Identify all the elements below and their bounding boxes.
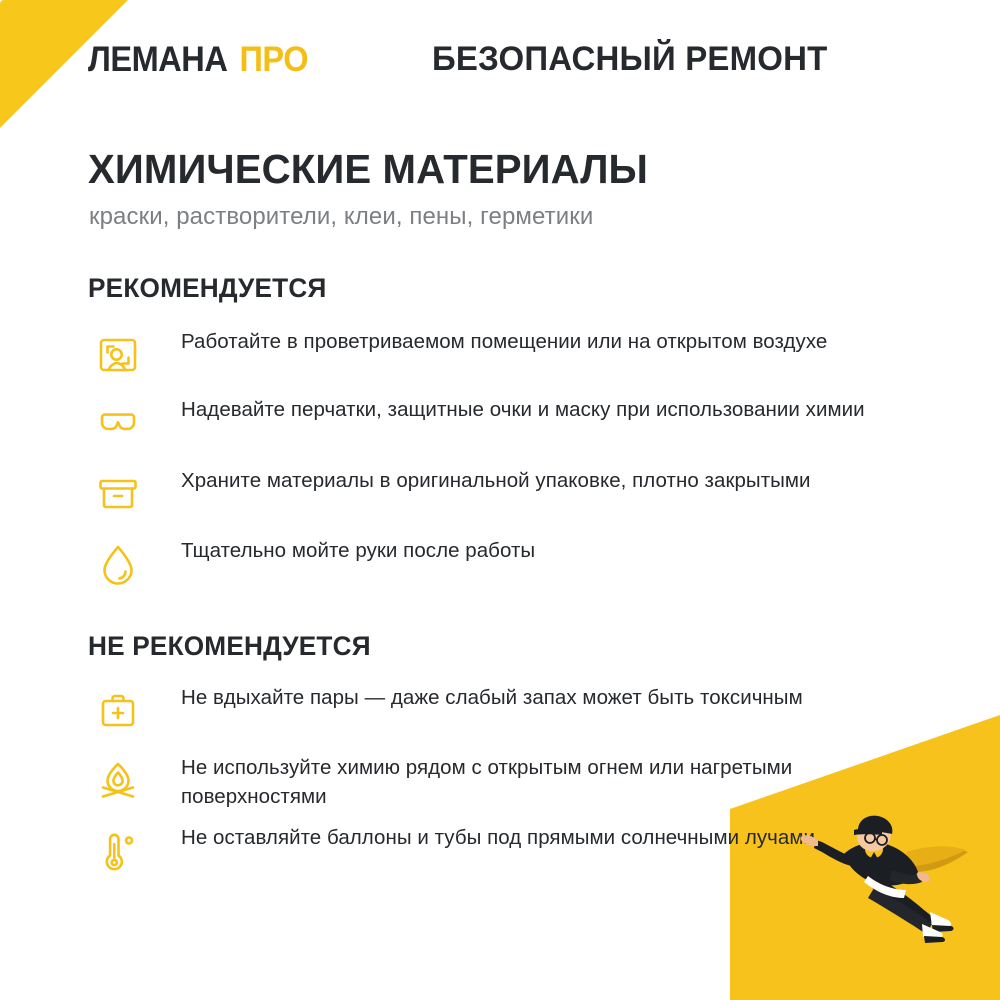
section-title-recommended: РЕКОМЕНДУЕТСЯ [88, 273, 326, 304]
brand-logo: ЛЕМАНА ПРО [88, 40, 308, 80]
page-title: ХИМИЧЕСКИЕ МАТЕРИАЛЫ [88, 146, 648, 193]
list-item-text: Надевайте перчатки, защитные очки и маск… [150, 395, 865, 424]
ventilated-room-icon [86, 329, 150, 381]
water-drop-icon [86, 538, 150, 590]
list-item-text: Храните материалы в оригинальной упаковк… [150, 466, 811, 495]
list-item-text: Не оставляйте баллоны и тубы под прямыми… [150, 823, 815, 852]
list-item: Не оставляйте баллоны и тубы под прямыми… [86, 823, 815, 877]
header-title: БЕЗОПАСНЫЙ РЕМОНТ [432, 40, 827, 79]
first-aid-kit-icon [86, 685, 150, 737]
list-item-text: Работайте в проветриваемом помещении или… [150, 327, 827, 356]
safety-goggles-icon [86, 397, 150, 449]
list-item: Работайте в проветриваемом помещении или… [86, 327, 827, 381]
thermometer-icon [86, 825, 150, 877]
list-item: Надевайте перчатки, защитные очки и маск… [86, 395, 865, 449]
safety-poster: ЛЕМАНА ПРО БЕЗОПАСНЫЙ РЕМОНТ ХИМИЧЕСКИЕ … [0, 0, 1000, 1000]
list-item: Не вдыхайте пары — даже слабый запах мож… [86, 683, 803, 737]
list-item-text: Не вдыхайте пары — даже слабый запах мож… [150, 683, 803, 712]
flying-superhero-mascot [782, 792, 982, 962]
list-item: Храните материалы в оригинальной упаковк… [86, 466, 811, 520]
list-item: Тщательно мойте руки после работы [86, 536, 535, 590]
section-title-not-recommended: НЕ РЕКОМЕНДУЕТСЯ [88, 631, 371, 662]
list-item-text: Тщательно мойте руки после работы [150, 536, 535, 565]
campfire-icon [86, 755, 150, 807]
brand-logo-accent: ПРО [239, 40, 308, 80]
brand-logo-main: ЛЕМАНА [88, 40, 227, 80]
page-subtitle: краски, растворители, клеи, пены, гермет… [89, 203, 593, 231]
storage-box-icon [86, 468, 150, 520]
list-item: Не используйте химию рядом с открытым ог… [86, 753, 901, 811]
poster-header: ЛЕМАНА ПРО БЕЗОПАСНЫЙ РЕМОНТ [0, 0, 1000, 112]
